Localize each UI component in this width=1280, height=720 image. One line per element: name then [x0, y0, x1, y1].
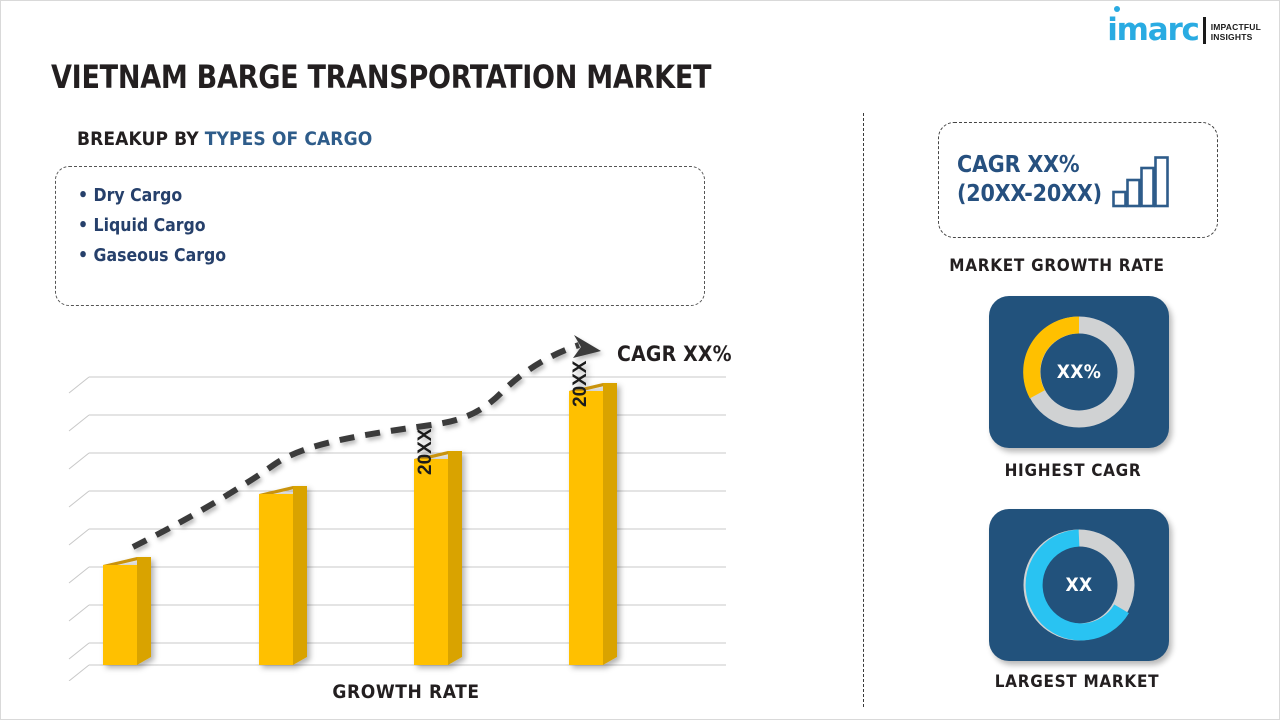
- panel-divider: [863, 113, 864, 707]
- bar-1: [103, 557, 151, 665]
- list-item: • Gaseous Cargo: [78, 241, 704, 271]
- page-title: VIETNAM BARGE TRANSPORTATION MARKET: [51, 58, 711, 96]
- right-panel: CAGR XX% (20XX-20XX) MARKET GROWTH RATE …: [881, 1, 1280, 720]
- list-item: • Liquid Cargo: [78, 211, 704, 241]
- highest-cagr-label: HIGHEST CAGR: [873, 461, 1273, 481]
- trend-line: [133, 335, 601, 547]
- breakup-heading: BREAKUP BY TYPES OF CARGO: [77, 128, 372, 150]
- highest-cagr-card: XX%: [989, 296, 1169, 448]
- cagr-value: CAGR XX%: [957, 151, 1102, 180]
- highest-cagr-value: XX%: [1057, 361, 1101, 383]
- chart-x-axis-label: GROWTH RATE: [61, 681, 751, 703]
- breakup-heading-prefix: BREAKUP BY: [77, 128, 205, 150]
- growth-rate-bar-chart: 20XX 20XX: [61, 331, 751, 681]
- largest-market-value: XX: [1066, 574, 1093, 596]
- largest-market-label: LARGEST MARKET: [877, 672, 1277, 692]
- cagr-text: CAGR XX% (20XX-20XX): [957, 151, 1102, 210]
- bar-3-label: 20XX: [415, 428, 436, 475]
- chart-cagr-annotation: CAGR XX%: [617, 342, 732, 366]
- cargo-types-box: • Dry Cargo • Liquid Cargo • Gaseous Car…: [55, 166, 705, 306]
- market-growth-rate-label: MARKET GROWTH RATE: [857, 256, 1257, 276]
- bar-4: 20XX: [569, 360, 617, 665]
- bar-2: [259, 486, 307, 665]
- market-growth-rate-box: CAGR XX% (20XX-20XX): [938, 122, 1218, 238]
- bar-4-label: 20XX: [570, 360, 591, 407]
- cagr-period: (20XX-20XX): [957, 180, 1102, 209]
- bar-chart-icon: [1112, 156, 1170, 208]
- chart-svg: 20XX 20XX: [61, 331, 751, 681]
- breakup-heading-accent: TYPES OF CARGO: [205, 128, 373, 150]
- list-item: • Dry Cargo: [78, 181, 704, 211]
- bar-3: 20XX: [414, 428, 462, 665]
- infographic-page: imarc IMPACTFUL INSIGHTS VIETNAM BARGE T…: [0, 0, 1280, 720]
- largest-market-card: XX: [989, 509, 1169, 661]
